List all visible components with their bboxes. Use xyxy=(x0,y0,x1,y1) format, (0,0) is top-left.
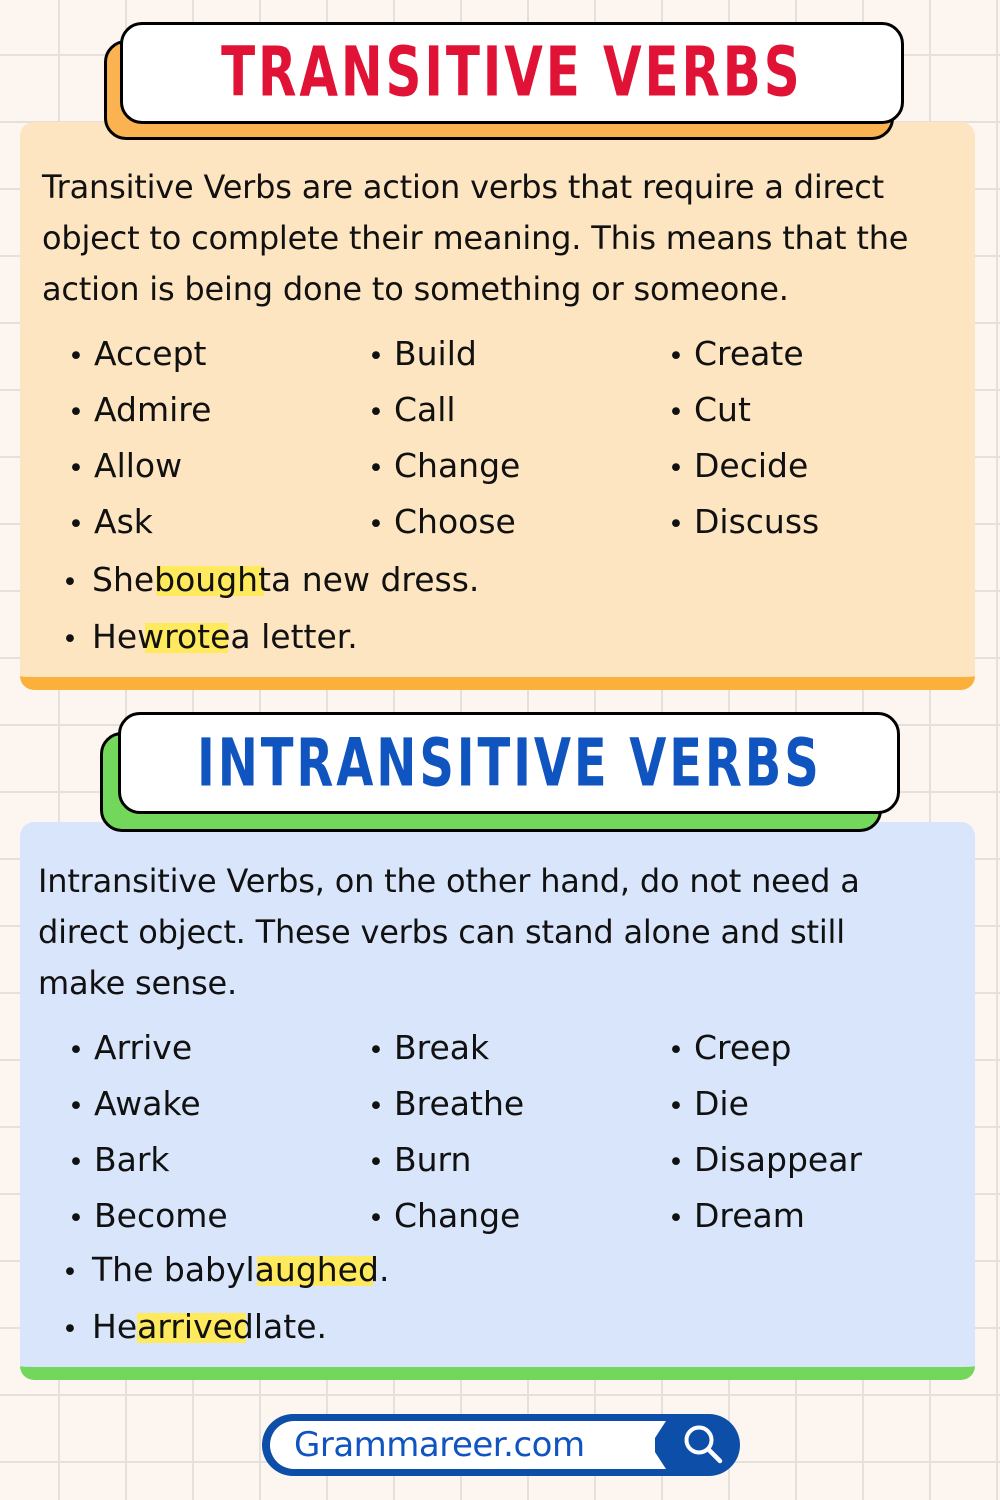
example-text-after: a new dress. xyxy=(271,560,479,599)
list-item: Break xyxy=(368,1028,668,1084)
example-text-before: He xyxy=(92,617,137,656)
example-text-after: a letter. xyxy=(230,617,357,656)
bullet-icon xyxy=(68,1205,94,1232)
list-item: Dream xyxy=(668,1196,968,1252)
bullet-icon xyxy=(62,569,92,596)
list-item: Call xyxy=(368,390,668,446)
verb-label: Become xyxy=(94,1196,228,1235)
example-text-after: . xyxy=(379,1250,390,1289)
magnifying-glass-icon xyxy=(680,1422,726,1468)
bullet-icon xyxy=(668,1205,694,1232)
bullet-icon xyxy=(668,1093,694,1120)
list-item: Awake xyxy=(68,1084,368,1140)
verb-label: Disappear xyxy=(694,1140,862,1179)
list-item: Create xyxy=(668,334,968,390)
list-item: Admire xyxy=(68,390,368,446)
verb-label: Ask xyxy=(94,502,153,541)
verb-label: Accept xyxy=(94,334,206,373)
verb-label: Dream xyxy=(694,1196,805,1235)
bullet-icon xyxy=(68,399,94,426)
bullet-icon xyxy=(62,1316,92,1343)
highlighted-verb: wrote xyxy=(137,617,230,656)
transitive-examples: She bought a new dress. He wrote a lette… xyxy=(62,560,479,674)
intransitive-examples: The baby laughed. He arrived late. xyxy=(62,1250,389,1364)
transitive-plaque-card: TRANSITIVE VERBS xyxy=(120,22,904,124)
transitive-intro-paragraph: Transitive Verbs are action verbs that r… xyxy=(42,162,972,315)
example-sentence: He wrote a letter. xyxy=(62,617,479,674)
verb-label: Allow xyxy=(94,446,182,485)
list-item: Accept xyxy=(68,334,368,390)
verb-label: Cut xyxy=(694,390,751,429)
logo-text-field: Grammareer.com xyxy=(270,1421,655,1469)
list-item: Change xyxy=(368,1196,668,1252)
bullet-icon xyxy=(68,511,94,538)
bullet-icon xyxy=(368,1037,394,1064)
list-item: Bark xyxy=(68,1140,368,1196)
bullet-icon xyxy=(68,455,94,482)
list-item: Creep xyxy=(668,1028,968,1084)
intransitive-verb-columns: Arrive Awake Bark Become Break Brea xyxy=(68,1028,968,1252)
example-text-before: The baby xyxy=(92,1250,246,1289)
list-item: Cut xyxy=(668,390,968,446)
site-logo[interactable]: Grammareer.com xyxy=(262,1414,740,1476)
verb-label: Admire xyxy=(94,390,211,429)
intransitive-title-plaque: INTRANSITIVE VERBS xyxy=(100,712,900,834)
list-item: Die xyxy=(668,1084,968,1140)
logo-label: Grammareer.com xyxy=(294,1425,585,1465)
example-text-before: She xyxy=(92,560,154,599)
transitive-verb-column-3: Create Cut Decide Discuss xyxy=(668,334,968,558)
intransitive-plaque-card: INTRANSITIVE VERBS xyxy=(118,712,900,814)
bullet-icon xyxy=(68,1149,94,1176)
transitive-verb-column-2: Build Call Change Choose xyxy=(368,334,668,558)
example-sentence: She bought a new dress. xyxy=(62,560,479,617)
bullet-icon xyxy=(668,455,694,482)
bullet-icon xyxy=(68,343,94,370)
verb-label: Choose xyxy=(394,502,516,541)
list-item: Disappear xyxy=(668,1140,968,1196)
verb-label: Awake xyxy=(94,1084,201,1123)
verb-label: Creep xyxy=(694,1028,791,1067)
list-item: Change xyxy=(368,446,668,502)
transitive-verb-column-1: Accept Admire Allow Ask xyxy=(68,334,368,558)
verb-label: Break xyxy=(394,1028,489,1067)
intransitive-verb-column-2: Break Breathe Burn Change xyxy=(368,1028,668,1252)
bullet-icon xyxy=(668,343,694,370)
highlighted-verb: laughed xyxy=(246,1250,379,1289)
verb-label: Change xyxy=(394,446,520,485)
verb-label: Breathe xyxy=(394,1084,524,1123)
list-item: Become xyxy=(68,1196,368,1252)
verb-label: Build xyxy=(394,334,477,373)
list-item: Discuss xyxy=(668,502,968,558)
transitive-title-plaque: TRANSITIVE VERBS xyxy=(104,22,904,142)
example-sentence: He arrived late. xyxy=(62,1307,389,1364)
verb-label: Burn xyxy=(394,1140,471,1179)
verb-label: Die xyxy=(694,1084,749,1123)
intransitive-intro-paragraph: Intransitive Verbs, on the other hand, d… xyxy=(38,856,933,1009)
list-item: Decide xyxy=(668,446,968,502)
bullet-icon xyxy=(368,343,394,370)
example-text-before: He xyxy=(92,1307,137,1346)
list-item: Ask xyxy=(68,502,368,558)
bullet-icon xyxy=(62,1259,92,1286)
intransitive-verb-column-3: Creep Die Disappear Dream xyxy=(668,1028,968,1252)
list-item: Burn xyxy=(368,1140,668,1196)
bullet-icon xyxy=(668,1149,694,1176)
bullet-icon xyxy=(368,1205,394,1232)
list-item: Breathe xyxy=(368,1084,668,1140)
infographic-page: TRANSITIVE VERBS Transitive Verbs are ac… xyxy=(0,0,1000,1500)
list-item: Allow xyxy=(68,446,368,502)
bullet-icon xyxy=(668,511,694,538)
bullet-icon xyxy=(68,1093,94,1120)
transitive-title-text: TRANSITIVE VERBS xyxy=(221,33,802,112)
verb-label: Create xyxy=(694,334,804,373)
verb-label: Call xyxy=(394,390,456,429)
example-text-after: late. xyxy=(254,1307,327,1346)
highlighted-verb: bought xyxy=(154,560,271,599)
bullet-icon xyxy=(668,399,694,426)
intransitive-title-text: INTRANSITIVE VERBS xyxy=(197,725,822,802)
verb-label: Bark xyxy=(94,1140,170,1179)
bullet-icon xyxy=(368,1093,394,1120)
verb-label: Discuss xyxy=(694,502,819,541)
verb-label: Arrive xyxy=(94,1028,192,1067)
verb-label: Decide xyxy=(694,446,808,485)
example-sentence: The baby laughed. xyxy=(62,1250,389,1307)
bullet-icon xyxy=(368,511,394,538)
list-item: Choose xyxy=(368,502,668,558)
bullet-icon xyxy=(668,1037,694,1064)
intransitive-verb-column-1: Arrive Awake Bark Become xyxy=(68,1028,368,1252)
bullet-icon xyxy=(368,399,394,426)
list-item: Arrive xyxy=(68,1028,368,1084)
highlighted-verb: arrived xyxy=(137,1307,254,1346)
bullet-icon xyxy=(68,1037,94,1064)
verb-label: Change xyxy=(394,1196,520,1235)
transitive-verb-columns: Accept Admire Allow Ask Build Call xyxy=(68,334,968,558)
list-item: Build xyxy=(368,334,668,390)
bullet-icon xyxy=(368,1149,394,1176)
bullet-icon xyxy=(62,626,92,653)
bullet-icon xyxy=(368,455,394,482)
